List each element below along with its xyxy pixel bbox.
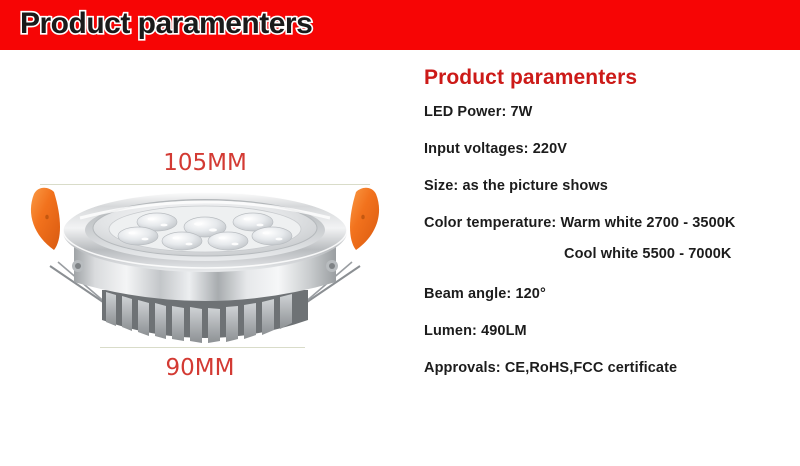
header-banner: Product paramenters: [0, 0, 800, 50]
specifications-list: LED Power: 7WInput voltages: 220VSize: a…: [424, 104, 800, 376]
specifications-panel: Product paramenters LED Power: 7WInput v…: [424, 66, 800, 397]
product-image-panel: 105MM: [0, 50, 410, 466]
led-downlight-image: [10, 170, 400, 360]
spec-line: Size: as the picture shows: [424, 178, 800, 194]
banner-title: Product paramenters: [20, 7, 312, 41]
spec-line: Lumen: 490LM: [424, 323, 800, 339]
dimension-line-cutout: [100, 347, 305, 348]
dimension-label-cutout: 90MM: [0, 355, 400, 381]
spec-line: LED Power: 7W: [424, 104, 800, 120]
spec-line: Color temperature: Warm white 2700 - 350…: [424, 215, 800, 231]
spec-line: Beam angle: 120°: [424, 286, 800, 302]
specifications-heading: Product paramenters: [424, 66, 800, 90]
spec-line: Approvals: CE,RoHS,FCC certificate: [424, 360, 800, 376]
spec-line: Cool white 5500 - 7000K: [424, 246, 800, 262]
spec-line: Input voltages: 220V: [424, 141, 800, 157]
